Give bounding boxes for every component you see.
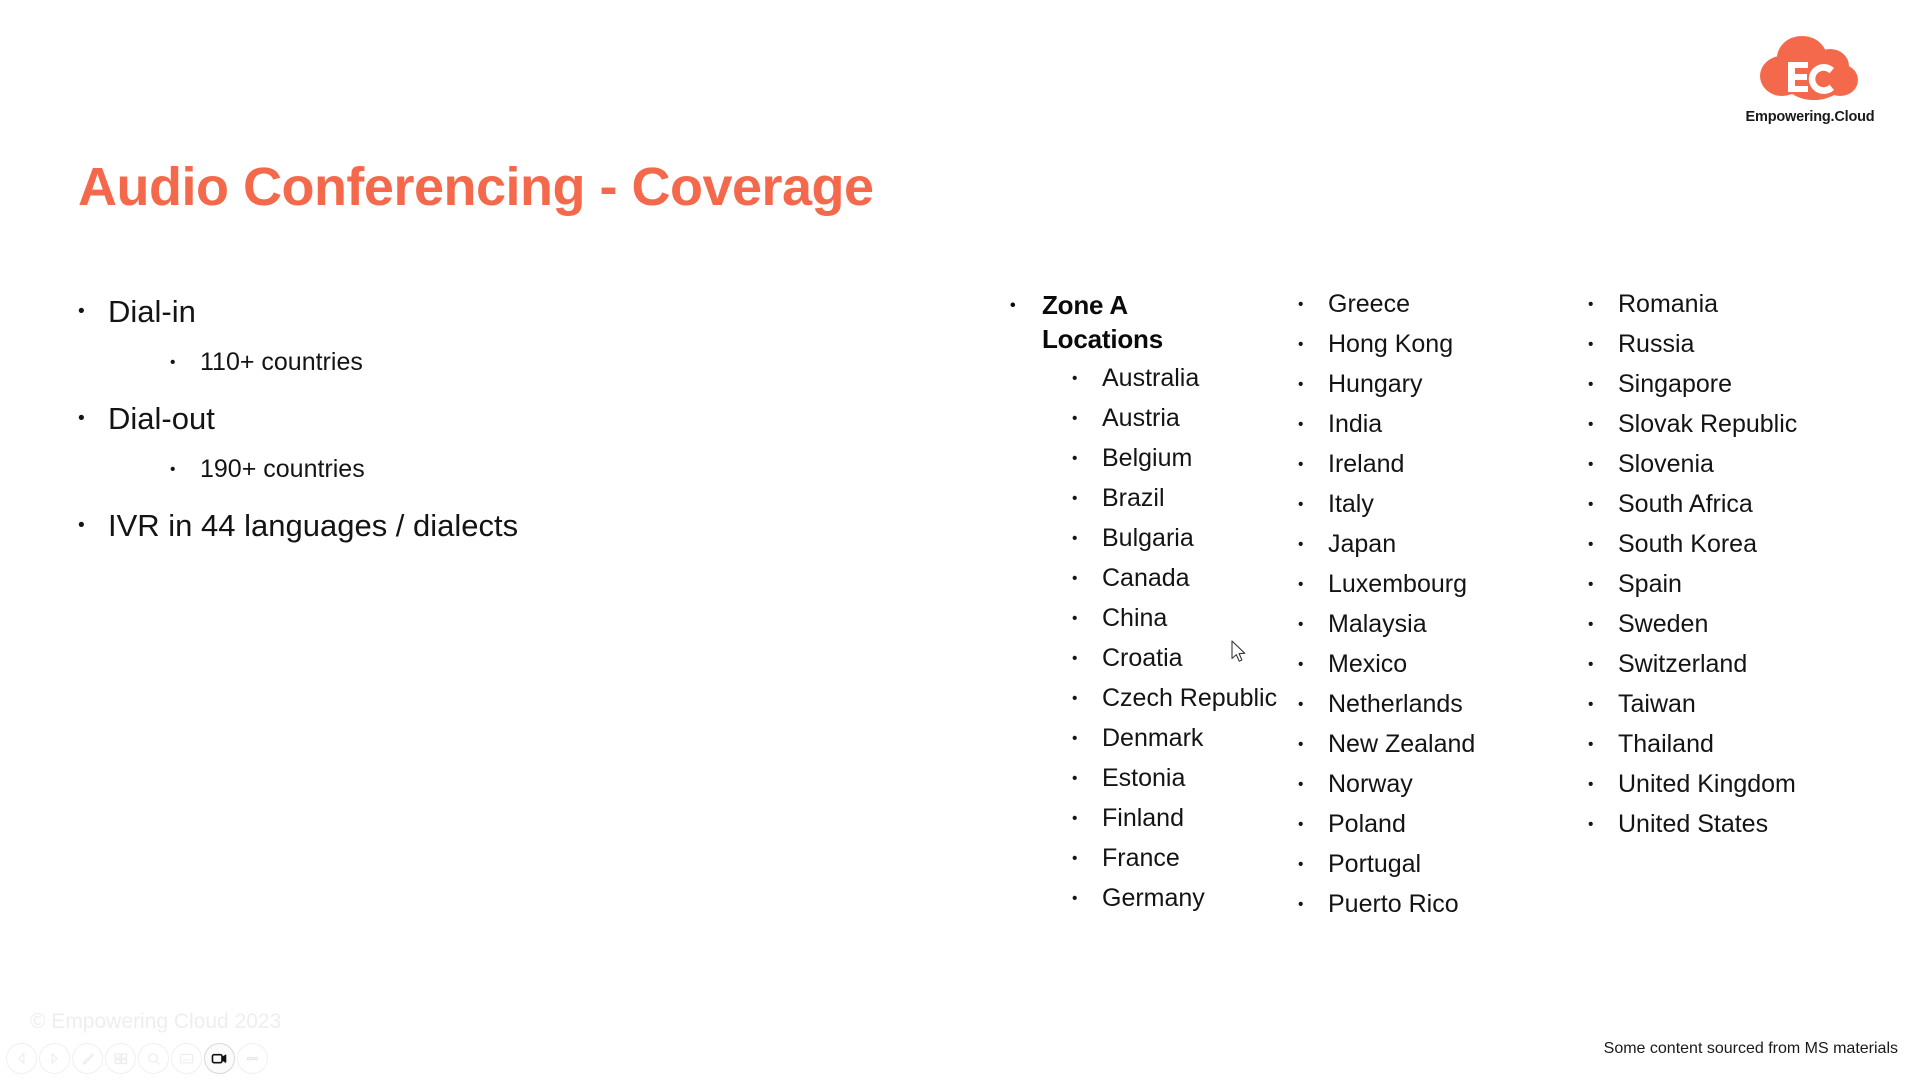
more-options-icon <box>244 1050 261 1067</box>
previous-slide-icon <box>14 1051 29 1066</box>
country-list-item: India <box>1280 408 1570 441</box>
left-sub-bullet-item: 190+ countries <box>108 447 770 492</box>
country-list-item: Luxembourg <box>1280 568 1570 601</box>
logo: Empowering.Cloud <box>1740 28 1880 125</box>
country-list-item: New Zealand <box>1280 728 1570 761</box>
pen-tool-button[interactable] <box>72 1043 103 1074</box>
country-list-item: Norway <box>1280 768 1570 801</box>
next-slide-button[interactable] <box>39 1043 70 1074</box>
zoom-slide-button[interactable] <box>138 1043 169 1074</box>
country-list-item: Sweden <box>1570 608 1870 641</box>
country-list-item: South Africa <box>1570 488 1870 521</box>
country-list-item: France <box>980 842 1280 875</box>
camera-icon <box>210 1049 229 1068</box>
country-list-item: Croatia <box>980 642 1280 675</box>
country-column-3: RomaniaRussiaSingaporeSlovak RepublicSlo… <box>1570 288 1870 848</box>
country-list-item: Puerto Rico <box>1280 888 1570 921</box>
country-list-item: Finland <box>980 802 1280 835</box>
country-list-item: Russia <box>1570 328 1870 361</box>
country-list-item: Greece <box>1280 288 1570 321</box>
copyright-notice: © Empowering Cloud 2023 <box>30 1010 281 1034</box>
country-list-item: Australia <box>980 362 1280 395</box>
country-list-item: Poland <box>1280 808 1570 841</box>
country-list-item: Portugal <box>1280 848 1570 881</box>
country-list-item: Ireland <box>1280 448 1570 481</box>
zoom-icon <box>146 1051 162 1067</box>
country-list-item: Italy <box>1280 488 1570 521</box>
left-bullet-item: Dial-in110+ countries <box>70 288 770 385</box>
left-sub-bullet-list: 110+ countries <box>108 340 770 385</box>
country-list-item: Romania <box>1570 288 1870 321</box>
country-list-item: Thailand <box>1570 728 1870 761</box>
country-list-item: Taiwan <box>1570 688 1870 721</box>
country-column-2: GreeceHong KongHungaryIndiaIrelandItalyJ… <box>1280 288 1570 928</box>
country-column-1: Zone A Locations AustraliaAustriaBelgium… <box>980 288 1280 922</box>
country-list-2: GreeceHong KongHungaryIndiaIrelandItalyJ… <box>1280 288 1570 921</box>
country-list-item: Slovak Republic <box>1570 408 1870 441</box>
country-list-item: Hungary <box>1280 368 1570 401</box>
logo-text: Empowering.Cloud <box>1740 109 1880 125</box>
country-list-item: Germany <box>980 882 1280 915</box>
country-list-item: United States <box>1570 808 1870 841</box>
country-list-item: South Korea <box>1570 528 1870 561</box>
country-list-item: Estonia <box>980 762 1280 795</box>
country-list-item: Switzerland <box>1570 648 1870 681</box>
country-list-item: Singapore <box>1570 368 1870 401</box>
left-bullet-label: Dial-in <box>108 294 196 329</box>
zone-a-locations-block: Zone A Locations AustraliaAustriaBelgium… <box>980 288 1900 928</box>
country-list-item: Spain <box>1570 568 1870 601</box>
all-slides-icon <box>113 1051 129 1067</box>
left-sub-bullet-item: 110+ countries <box>108 340 770 385</box>
left-bullet-content: Dial-in110+ countriesDial-out190+ countr… <box>70 288 770 552</box>
subtitles-icon <box>178 1050 195 1067</box>
more-options-button[interactable] <box>237 1043 268 1074</box>
country-list-item: Slovenia <box>1570 448 1870 481</box>
country-list-3: RomaniaRussiaSingaporeSlovak RepublicSlo… <box>1570 288 1870 841</box>
next-slide-icon <box>47 1051 62 1066</box>
pen-icon <box>80 1051 96 1067</box>
zone-a-heading: Zone A Locations <box>980 288 1212 356</box>
country-list-1: AustraliaAustriaBelgiumBrazilBulgariaCan… <box>980 362 1280 915</box>
source-note: Some content sourced from MS materials <box>1604 1040 1898 1058</box>
country-list-item: Bulgaria <box>980 522 1280 555</box>
country-list-item: Mexico <box>1280 648 1570 681</box>
country-list-item: Denmark <box>980 722 1280 755</box>
left-bullet-item: Dial-out190+ countries <box>70 395 770 492</box>
presenter-toolbar <box>6 1043 268 1074</box>
country-list-item: Belgium <box>980 442 1280 475</box>
left-bullet-label: IVR in 44 languages / dialects <box>108 508 518 543</box>
left-bullet-label: Dial-out <box>108 401 215 436</box>
left-bullet-list: Dial-in110+ countriesDial-out190+ countr… <box>70 288 770 550</box>
left-bullet-item: IVR in 44 languages / dialects <box>70 502 770 550</box>
previous-slide-button[interactable] <box>6 1043 37 1074</box>
all-slides-button[interactable] <box>105 1043 136 1074</box>
country-list-item: Czech Republic <box>980 682 1280 715</box>
country-list-item: Brazil <box>980 482 1280 515</box>
country-list-item: Malaysia <box>1280 608 1570 641</box>
country-list-item: Hong Kong <box>1280 328 1570 361</box>
country-list-item: China <box>980 602 1280 635</box>
page-title: Audio Conferencing - Coverage <box>78 156 874 218</box>
country-list-item: Canada <box>980 562 1280 595</box>
country-list-item: United Kingdom <box>1570 768 1870 801</box>
cloud-logo-icon <box>1758 28 1862 108</box>
presentation-slide: Empowering.Cloud Audio Conferencing - Co… <box>0 0 1920 1080</box>
country-list-item: Austria <box>980 402 1280 435</box>
country-list-item: Japan <box>1280 528 1570 561</box>
camera-button[interactable] <box>204 1043 235 1074</box>
left-sub-bullet-list: 190+ countries <box>108 447 770 492</box>
country-list-item: Netherlands <box>1280 688 1570 721</box>
subtitles-button[interactable] <box>171 1043 202 1074</box>
